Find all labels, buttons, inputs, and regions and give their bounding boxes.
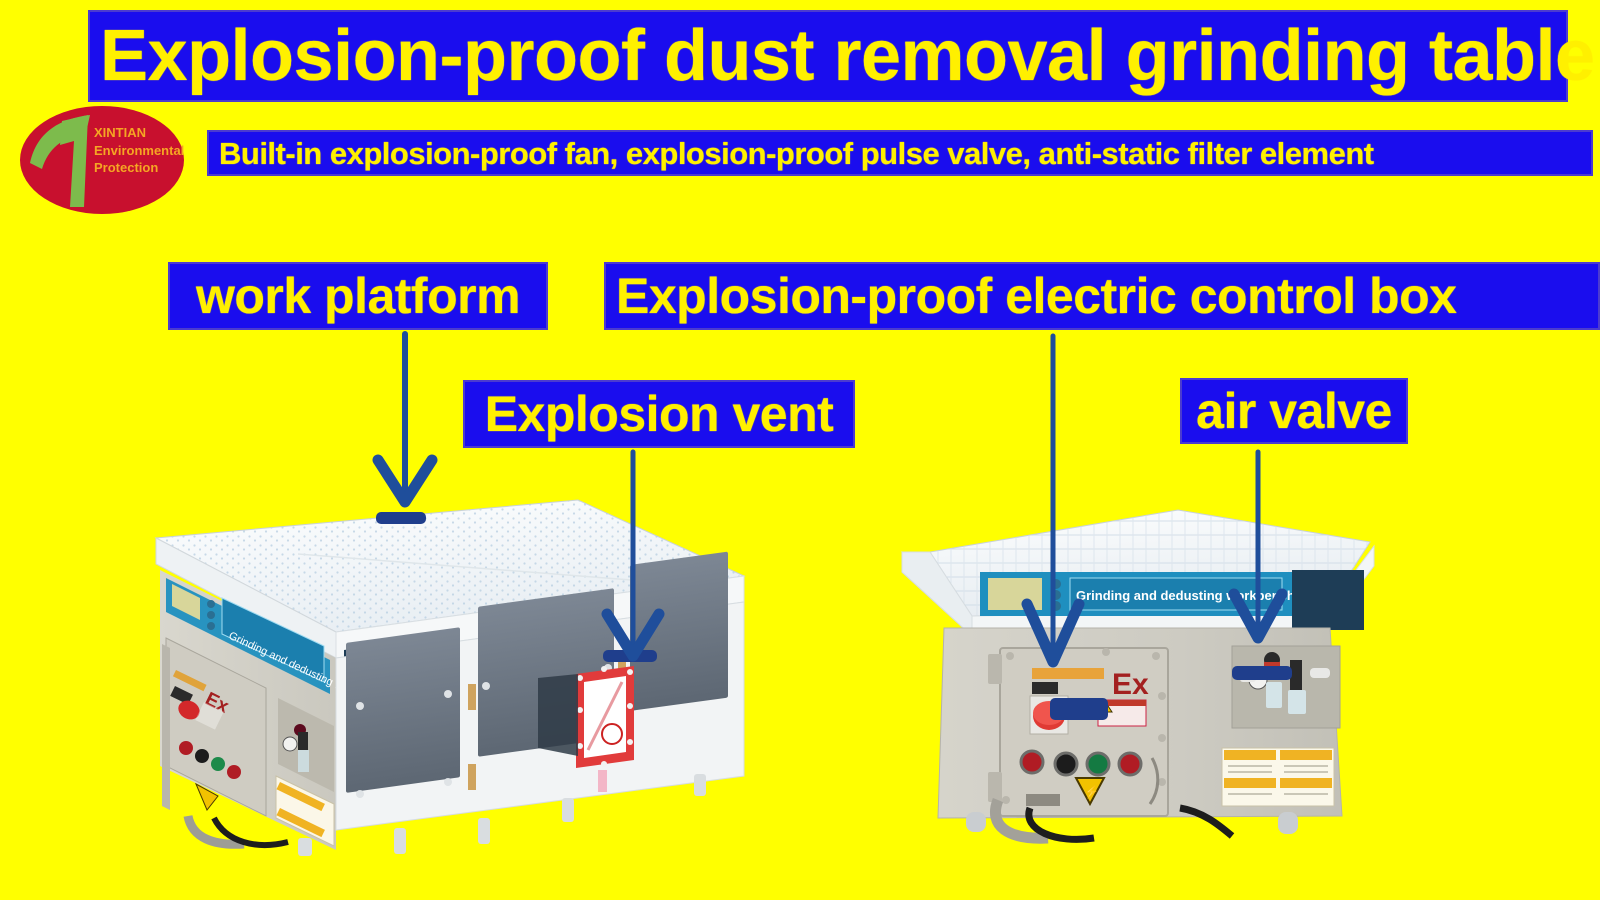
callout-control-box: Explosion-proof electric control box bbox=[604, 262, 1600, 330]
company-logo: XINTIAN Environmental Protection bbox=[20, 106, 184, 214]
arrow-air-valve bbox=[1215, 448, 1325, 644]
arrow-explosion-vent bbox=[585, 448, 695, 666]
logo-line-3: Protection bbox=[94, 159, 186, 177]
redaction-bar-air-valve bbox=[1232, 666, 1292, 680]
logo-text: XINTIAN Environmental Protection bbox=[94, 124, 186, 177]
callout-air-valve: air valve bbox=[1180, 378, 1408, 444]
svg-text:⚡: ⚡ bbox=[1084, 785, 1099, 799]
logo-line-2: Environmental bbox=[94, 142, 186, 160]
page-subtitle: Built-in explosion-proof fan, explosion-… bbox=[207, 130, 1593, 176]
svg-text:Ex: Ex bbox=[1112, 668, 1149, 701]
callout-work-platform: work platform bbox=[168, 262, 548, 330]
redaction-bar-platform bbox=[376, 512, 426, 524]
callout-explosion-vent: Explosion vent bbox=[463, 380, 855, 448]
arrow-control-box bbox=[1010, 332, 1120, 672]
poster-canvas: Explosion-proof dust removal grinding ta… bbox=[0, 0, 1600, 900]
arrow-work-platform bbox=[350, 330, 460, 510]
page-title: Explosion-proof dust removal grinding ta… bbox=[88, 10, 1568, 102]
logo-line-1: XINTIAN bbox=[94, 124, 186, 142]
redaction-bar-control-box bbox=[1050, 698, 1108, 720]
